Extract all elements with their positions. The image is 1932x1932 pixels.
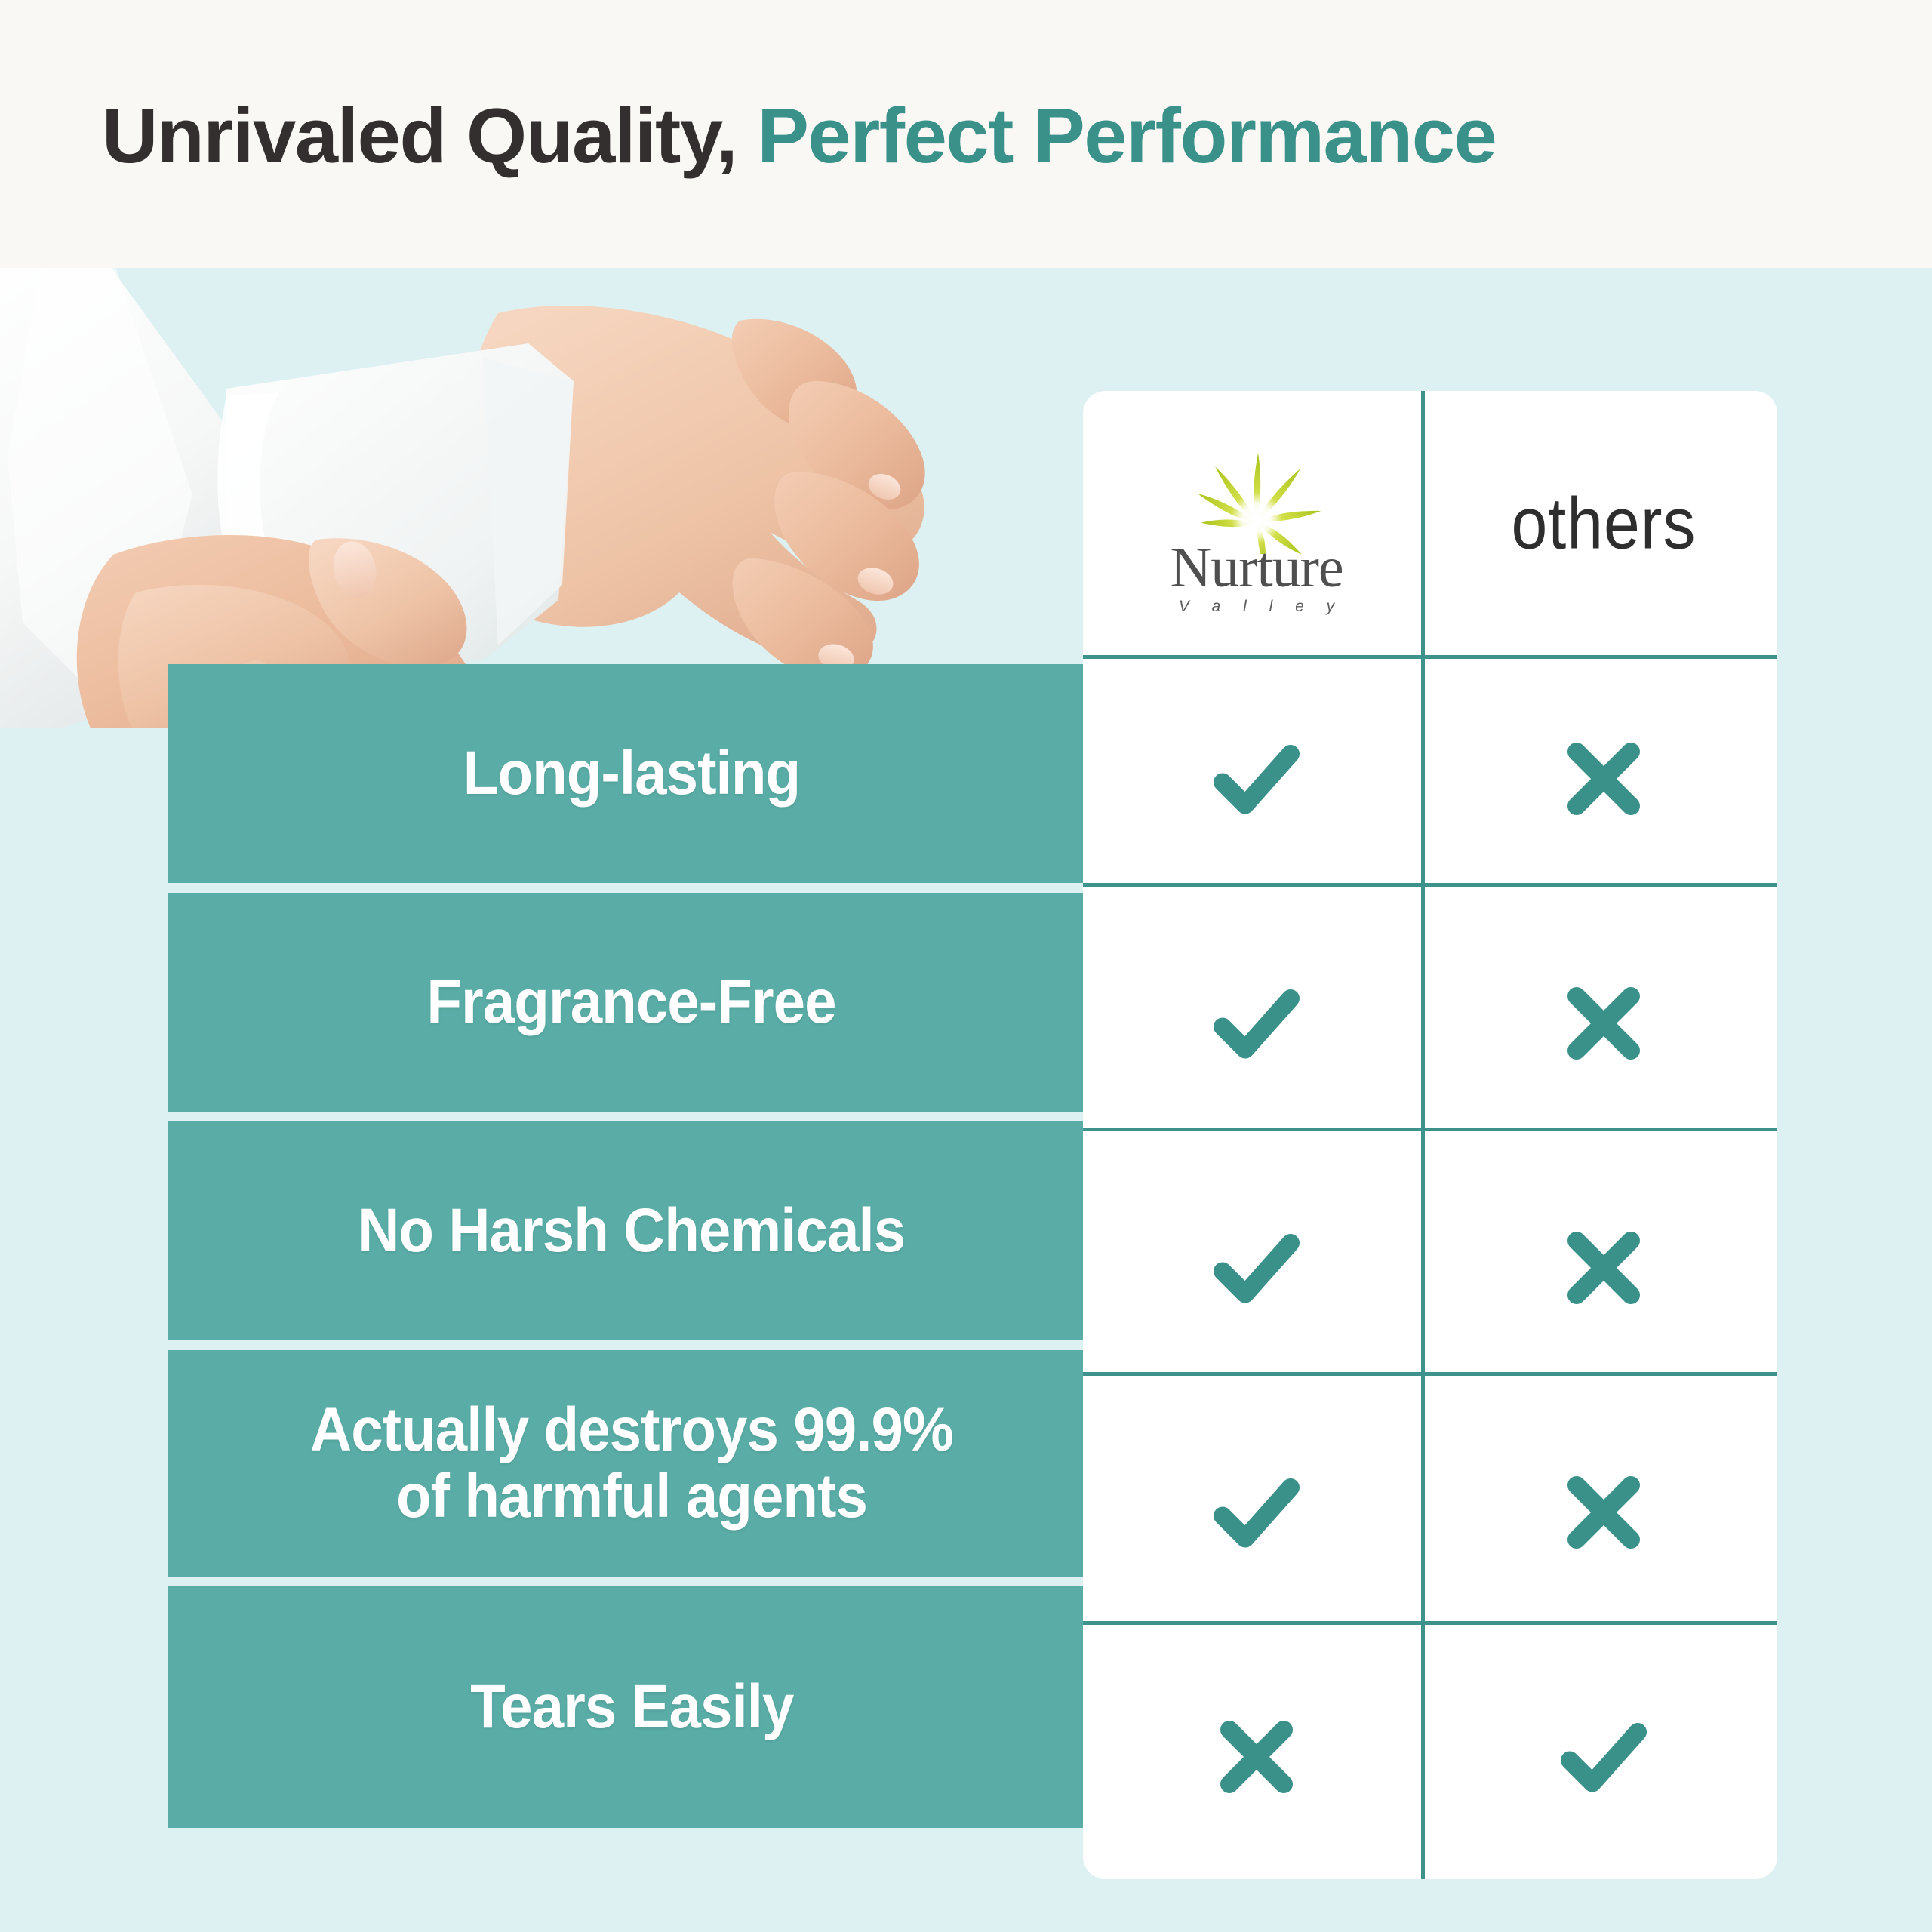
check-icon (1200, 1456, 1313, 1569)
cross-icon (1547, 1456, 1660, 1569)
cell-others-no-harsh-chemicals (1430, 1146, 1777, 1390)
competitor-label: others (1511, 482, 1696, 566)
brand-column-header: Nurture V a l l e y (1083, 391, 1430, 657)
check-icon (1200, 1211, 1313, 1324)
cell-others-fragrance-free (1430, 901, 1777, 1146)
comparison-grid: Nurture V a l l e y others (1083, 391, 1777, 1879)
cell-others-tears-easily (1430, 1635, 1777, 1879)
comparison-infographic: Unrivaled Quality, Perfect Performance L… (0, 0, 1932, 1932)
brand-subtitle: V a l l e y (1170, 598, 1343, 616)
hands-using-wipe-photo (0, 268, 974, 728)
cell-nurture-tears-easily (1083, 1635, 1430, 1879)
header-band: Unrivaled Quality, Perfect Performance (0, 0, 1932, 268)
comparison-card: Nurture V a l l e y others (1083, 391, 1777, 1879)
feature-label: Long-lasting (463, 740, 800, 807)
table-row: Long-lasting (168, 664, 1096, 883)
competitor-column-header: others (1430, 391, 1777, 657)
cross-icon (1200, 1700, 1313, 1814)
page-title-part1: Unrivaled Quality, (102, 92, 737, 179)
cell-nurture-no-harsh-chemicals (1083, 1146, 1430, 1390)
nurture-valley-logo: Nurture V a l l e y (1170, 441, 1343, 616)
check-icon (1200, 967, 1313, 1080)
row-divider (1083, 883, 1777, 887)
feature-label: No Harsh Chemicals (358, 1198, 906, 1264)
feature-label-line2: of harmful agents (310, 1463, 953, 1530)
feature-row-list: Long-lasting Fragrance-Free No Harsh Che… (168, 664, 1096, 1828)
table-row: Tears Easily (168, 1586, 1096, 1828)
cross-icon (1547, 1211, 1660, 1324)
cross-icon (1547, 967, 1660, 1080)
row-divider (1083, 655, 1777, 659)
cross-icon (1547, 722, 1660, 835)
feature-label: Fragrance-Free (427, 969, 836, 1035)
row-divider (1083, 1621, 1777, 1625)
cell-others-long-lasting (1430, 657, 1777, 901)
brand-name: Nurture (1170, 542, 1343, 595)
check-icon (1200, 722, 1313, 835)
page-title-part2: Perfect Performance (757, 92, 1496, 179)
feature-label-line1: Actually destroys 99.9% (310, 1397, 953, 1463)
feature-label: Actually destroys 99.9% of harmful agent… (310, 1397, 953, 1529)
feature-label: Tears Easily (470, 1674, 793, 1740)
row-divider (1083, 1372, 1777, 1376)
table-row: No Harsh Chemicals (168, 1121, 1096, 1340)
table-row: Actually destroys 99.9% of harmful agent… (168, 1350, 1096, 1577)
cell-nurture-fragrance-free (1083, 901, 1430, 1146)
page-title: Unrivaled Quality, Perfect Performance (102, 97, 1496, 174)
cell-nurture-destroys-agents (1083, 1390, 1430, 1635)
table-row: Fragrance-Free (168, 893, 1096, 1112)
row-divider (1083, 1128, 1777, 1131)
check-icon (1547, 1700, 1660, 1814)
cell-nurture-long-lasting (1083, 657, 1430, 901)
cell-others-destroys-agents (1430, 1390, 1777, 1635)
column-divider (1421, 391, 1425, 1879)
